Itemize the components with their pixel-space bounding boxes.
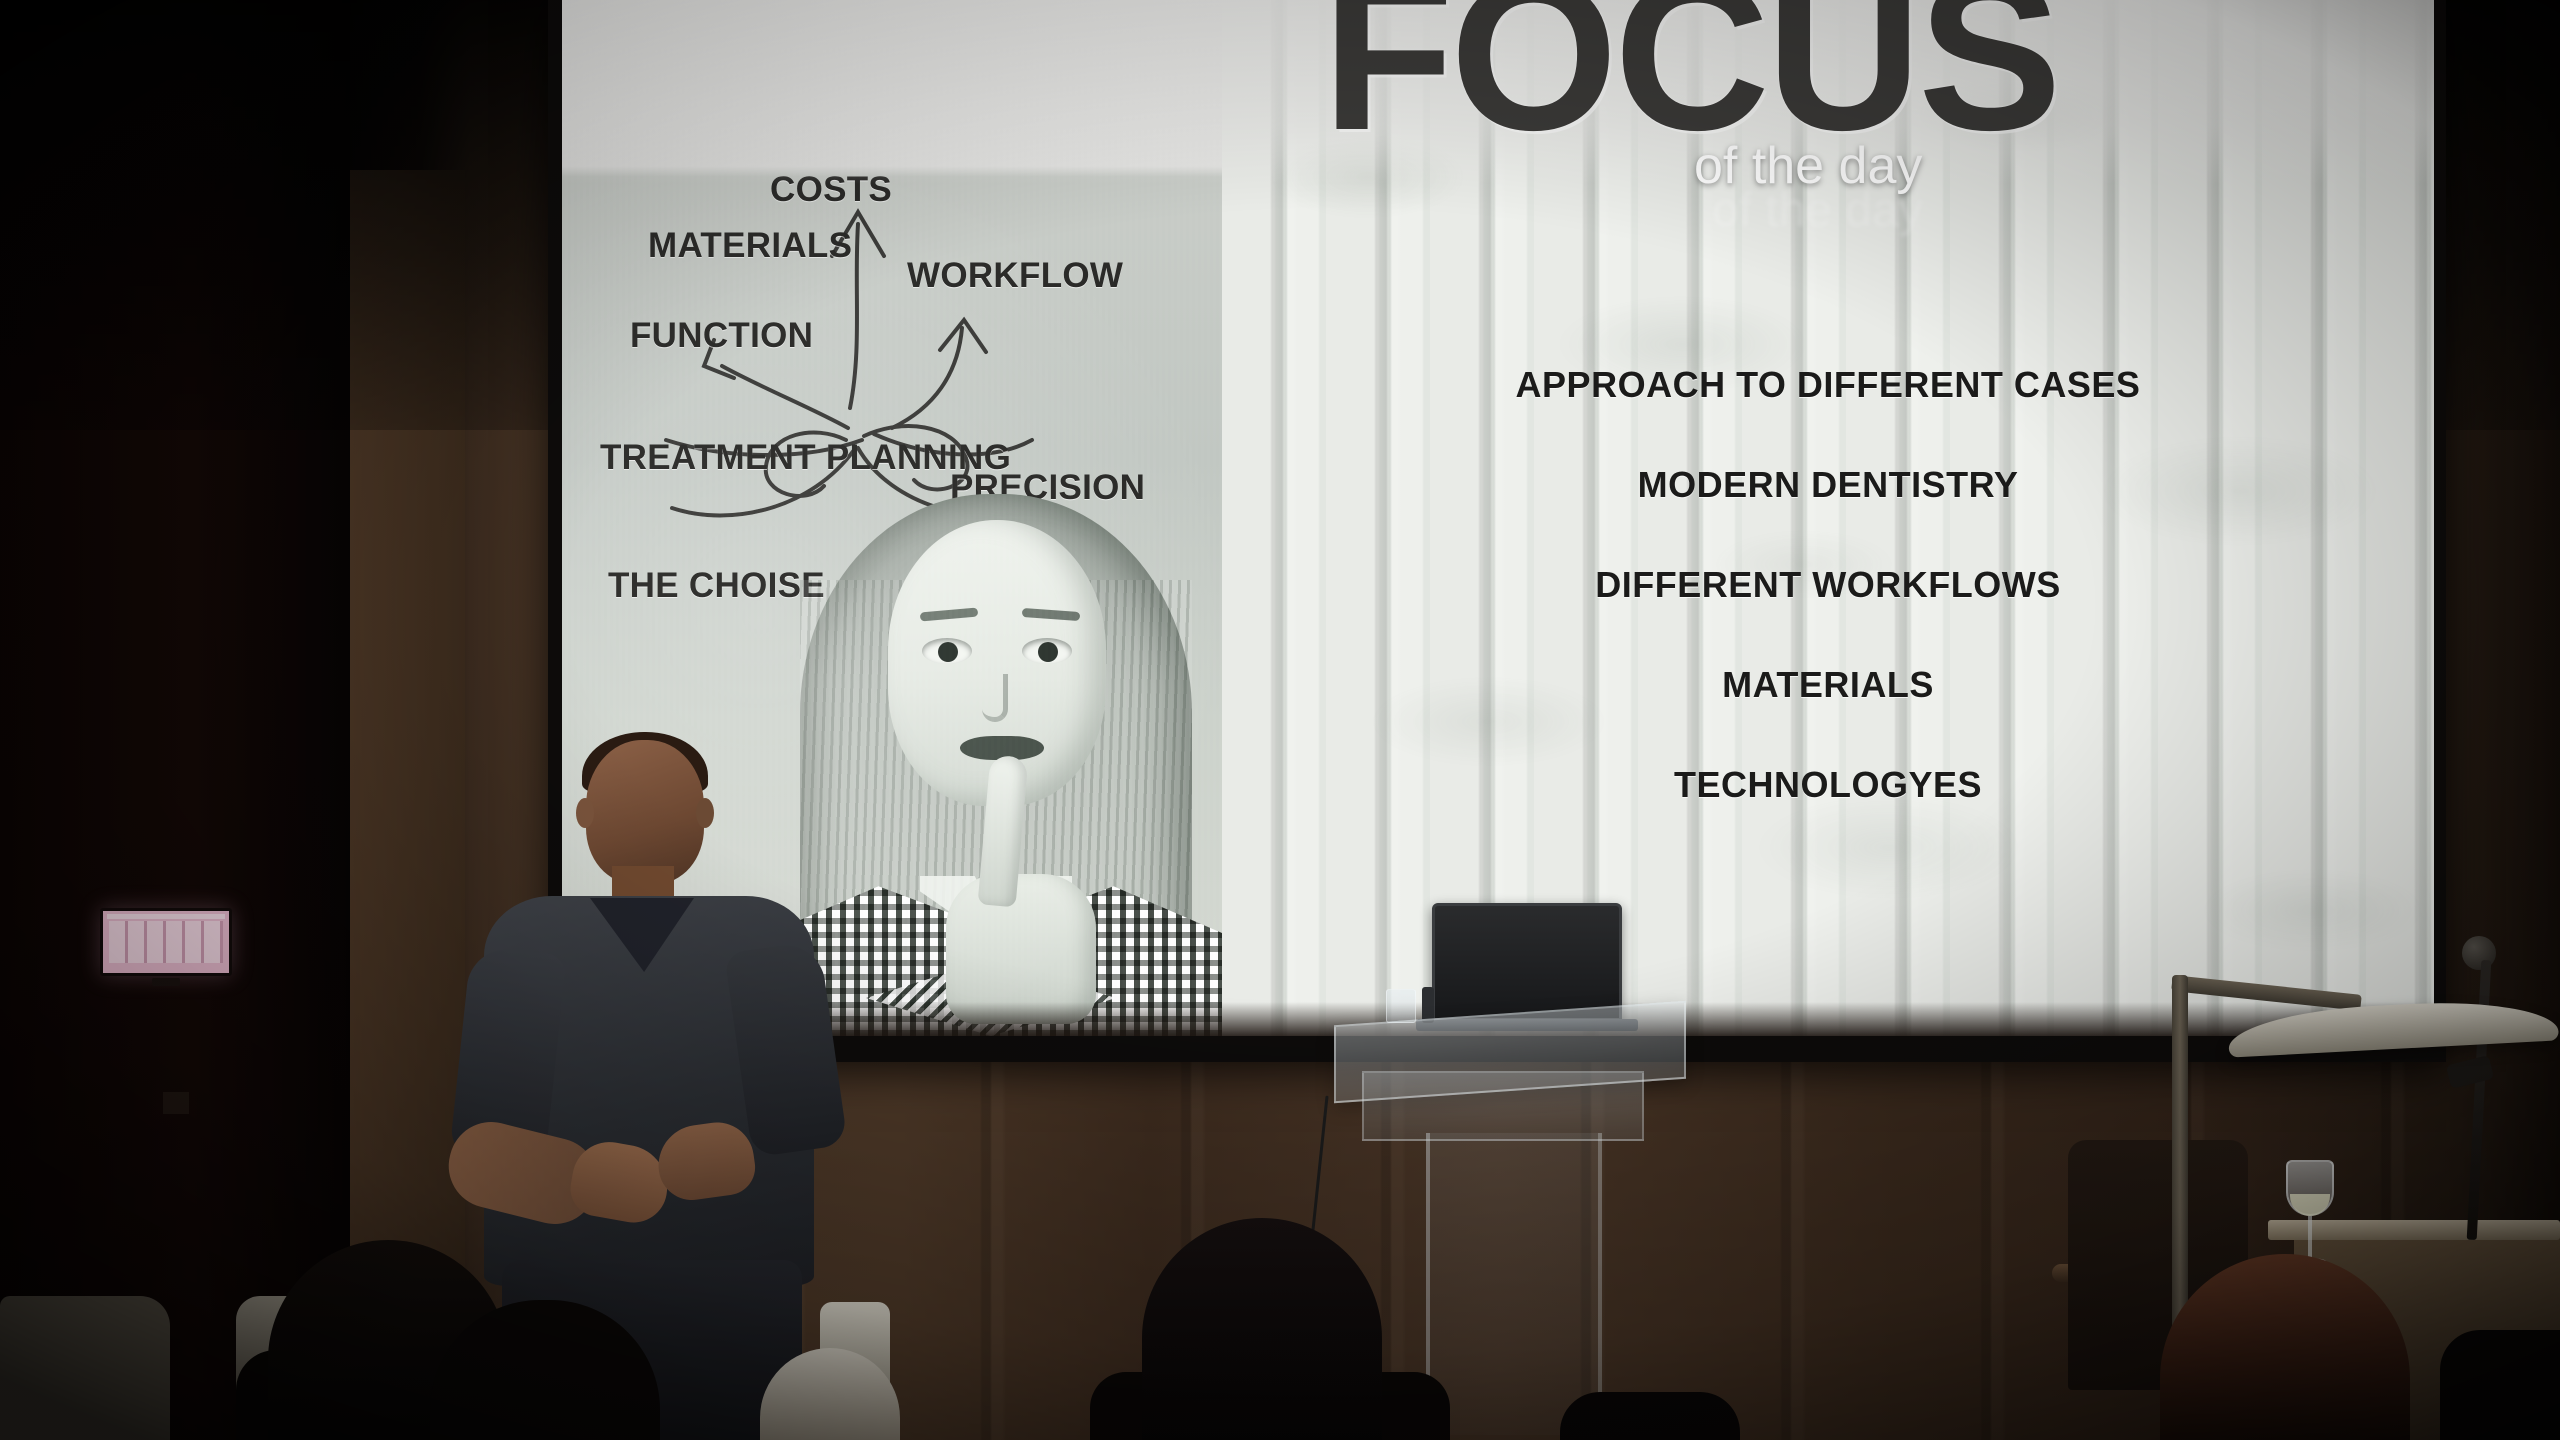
wine-liquid	[2290, 1194, 2330, 1216]
portrait-face	[888, 520, 1106, 806]
slide-title: FOCUS	[1322, 0, 2058, 162]
portrait-eyebrow-right	[1022, 608, 1080, 621]
projection-screen: COSTS MATERIALS FUNCTION WORKFLOW TREATM…	[562, 0, 2434, 1036]
water-glass	[1386, 989, 1416, 1023]
slide-bullet-item: TECHNOLOGYES	[1674, 764, 1982, 806]
mindmap-label-precision: PRECISION	[950, 468, 1145, 508]
laptop-screen	[1432, 903, 1622, 1021]
monitor-stand	[152, 978, 180, 986]
portrait-eye-right	[1022, 638, 1072, 664]
acrylic-lectern	[1334, 895, 1704, 1440]
monitor-titlebar	[107, 914, 225, 919]
lecture-hall-photo: COSTS MATERIALS FUNCTION WORKFLOW TREATM…	[0, 0, 2560, 1440]
lectern-edge-right	[1598, 1133, 1602, 1435]
mindmap-label-workflow: WORKFLOW	[907, 256, 1123, 296]
dark-left-region	[0, 0, 350, 1440]
portrait-lips	[960, 736, 1044, 760]
wine-glass-stem	[2308, 1216, 2312, 1258]
portrait-collar	[920, 876, 1072, 946]
presenter-head	[586, 740, 704, 884]
audience-member	[0, 1296, 170, 1440]
presenter-ear-left	[576, 798, 594, 828]
slide-subtitle: of the day	[1694, 136, 1922, 196]
mindmap-label-the-choise: THE CHOISE	[608, 566, 825, 606]
lectern-front-panel	[1362, 1071, 1644, 1141]
slide-bullet-item: MATERIALS	[1722, 664, 1934, 706]
slide-bullet-item: DIFFERENT WORKFLOWS	[1595, 564, 2060, 606]
monitor-content	[109, 921, 223, 963]
portrait-eyebrow-left	[920, 607, 979, 621]
mindmap-label-treatment-planning: TREATMENT PLANNING	[600, 438, 1011, 478]
confidence-monitor	[100, 908, 232, 976]
presenter-ear-right	[696, 798, 714, 828]
wall-plate	[163, 1092, 189, 1114]
portrait-pupil-left	[938, 642, 958, 662]
mindmap-label-function: FUNCTION	[630, 316, 813, 356]
portrait-pupil-right	[1038, 642, 1058, 662]
mindmap-label-materials: MATERIALS	[648, 226, 852, 266]
slide-bullet-item: APPROACH TO DIFFERENT CASES	[1516, 364, 2141, 406]
audience-member	[1560, 1392, 1740, 1440]
mindmap-label-esthetics: ESTHETICS	[944, 610, 1143, 650]
portrait-hair-strands	[800, 580, 1192, 1036]
lectern-body	[1426, 1133, 1602, 1435]
portrait-hair	[800, 494, 1192, 1036]
mindmap-label-costs: COSTS	[770, 170, 892, 210]
portrait-nose	[982, 674, 1008, 722]
slide-bullet-list: APPROACH TO DIFFERENT CASES MODERN DENTI…	[1222, 364, 2434, 806]
portrait-eye-left	[922, 638, 972, 664]
portrait-index-finger	[978, 755, 1029, 908]
slide-bullet-item: MODERN DENTISTRY	[1638, 464, 2019, 506]
audience-member	[2440, 1330, 2560, 1440]
